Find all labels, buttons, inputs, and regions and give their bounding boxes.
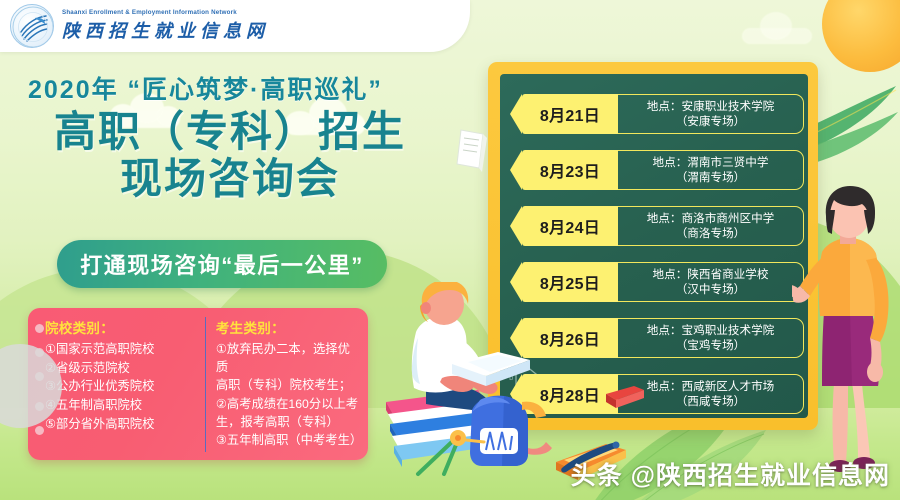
info-item: ①国家示范高职院校 bbox=[45, 340, 201, 359]
slogan-badge: 打通现场咨询“最后一公里” bbox=[57, 240, 387, 288]
footer-watermark: 头条 @陕西招生就业信息网 bbox=[571, 456, 890, 492]
schedule-location-line1: 地点：陕西省商业学校 bbox=[653, 267, 769, 282]
teacher-figure bbox=[792, 186, 900, 476]
slogan-text: 打通现场咨询“最后一公里” bbox=[80, 248, 364, 280]
eraser-icon bbox=[606, 386, 644, 408]
info-item: ②省级示范院校 bbox=[45, 359, 201, 378]
schedule-location-line2: （渭南专场） bbox=[676, 170, 746, 185]
info-item: 生，报考高职（专科） bbox=[216, 413, 360, 431]
schedule-location-line1: 地点：安康职业技术学院 bbox=[647, 99, 775, 114]
schedule-location-line1: 地点：渭南市三贤中学 bbox=[653, 155, 769, 170]
schedule-date: 8月24日 bbox=[522, 206, 618, 246]
hero-year-line: 2020年 “匠心筑梦·高职巡礼” bbox=[28, 70, 458, 106]
info-panel: 院校类别： ①国家示范高职院校 ②省级示范院校 ③公办行业优秀院校 ④五年制高职… bbox=[28, 308, 368, 460]
page-title-line-1: 高职（专科）招生 bbox=[20, 108, 440, 155]
schedule-row[interactable]: 8月23日 地点：渭南市三贤中学 （渭南专场） bbox=[522, 150, 804, 190]
info-item: ②高考成绩在160分以上考 bbox=[216, 395, 360, 413]
info-item: ③五年制高职（中考考生） bbox=[216, 431, 360, 449]
schedule-row[interactable]: 8月21日 地点：安康职业技术学院 （安康专场） bbox=[522, 94, 804, 134]
schedule-location: 地点：渭南市三贤中学 （渭南专场） bbox=[618, 150, 804, 190]
info-heading-schools: 院校类别： bbox=[45, 317, 201, 337]
schedule-row[interactable]: 8月25日 地点：陕西省商业学校 （汉中专场） bbox=[522, 262, 804, 302]
info-item: 高职（专科）院校考生； bbox=[216, 376, 360, 394]
info-item: ①放弃民办二本，选择优质 bbox=[216, 340, 360, 376]
info-item: ⑤部分省外高职院校 bbox=[45, 415, 201, 434]
schedule-location-line2: （商洛专场） bbox=[676, 226, 746, 241]
page-title-line-2: 现场咨询会 bbox=[20, 155, 440, 202]
logo-chinese-text: 陕西招生就业信息网 bbox=[62, 17, 269, 43]
schedule-location-line2: （安康专场） bbox=[676, 114, 746, 129]
info-item: ④五年制高职院校 bbox=[45, 396, 201, 415]
backpack-icon bbox=[470, 396, 552, 466]
schedule-row[interactable]: 8月24日 地点：商洛市商州区中学 （商洛专场） bbox=[522, 206, 804, 246]
schedule-location-line2: （宝鸡专场） bbox=[676, 338, 746, 353]
schedule-location-line2: （西咸专场） bbox=[676, 394, 746, 409]
info-heading-candidates: 考生类别： bbox=[216, 317, 360, 337]
schedule-row[interactable]: 8月26日 地点：宝鸡职业技术学院 （宝鸡专场） bbox=[522, 318, 804, 358]
wave-globe-logo-icon bbox=[10, 4, 54, 48]
schedule-location-line1: 地点：商洛市商州区中学 bbox=[647, 211, 775, 226]
info-item: ③公办行业优秀院校 bbox=[45, 377, 201, 396]
schedule-date: 8月23日 bbox=[522, 150, 618, 190]
schedule-location-line1: 地点：西咸新区人才市场 bbox=[647, 379, 775, 394]
schedule-location: 地点：商洛市商州区中学 （商洛专场） bbox=[618, 206, 804, 246]
schedule-location-line2: （汉中专场） bbox=[676, 282, 746, 297]
punch-hole-icon bbox=[35, 324, 44, 333]
logo-english-text: Shaanxi Enrollment & Employment Informat… bbox=[62, 9, 269, 16]
site-header-bar: Shaanxi Enrollment & Employment Informat… bbox=[0, 0, 470, 52]
poster-canvas: Shaanxi Enrollment & Employment Informat… bbox=[0, 0, 900, 500]
info-column-schools: 院校类别： ①国家示范高职院校 ②省级示范院校 ③公办行业优秀院校 ④五年制高职… bbox=[45, 317, 205, 452]
schedule-date: 8月21日 bbox=[522, 94, 618, 134]
page-title: 高职（专科）招生 现场咨询会 bbox=[20, 108, 440, 202]
schedule-location: 地点：陕西省商业学校 （汉中专场） bbox=[618, 262, 804, 302]
info-column-candidates: 考生类别： ①放弃民办二本，选择优质 高职（专科）院校考生； ②高考成绩在160… bbox=[205, 317, 360, 452]
schedule-location: 地点：宝鸡职业技术学院 （宝鸡专场） bbox=[618, 318, 804, 358]
schedule-location-line1: 地点：宝鸡职业技术学院 bbox=[647, 323, 775, 338]
paper-note-icon bbox=[455, 128, 489, 180]
schedule-location: 地点：安康职业技术学院 （安康专场） bbox=[618, 94, 804, 134]
punch-hole-icon bbox=[35, 426, 44, 435]
